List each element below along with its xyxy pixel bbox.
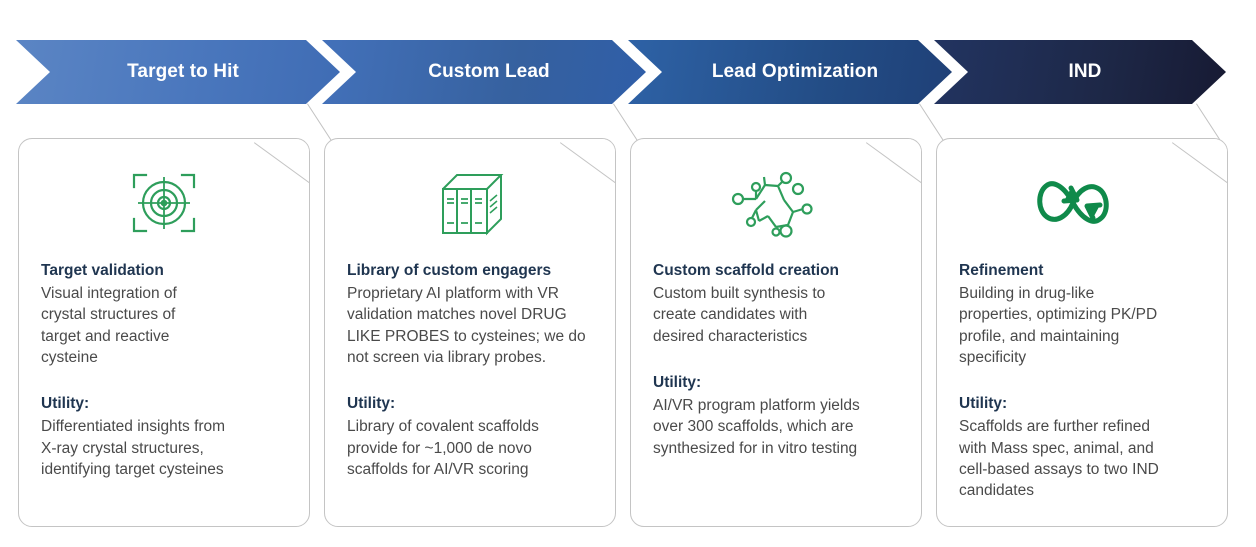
card-utility-body-1: Differentiated insights from X-ray cryst… <box>41 416 287 480</box>
chevron-label-2: Custom Lead <box>418 61 549 83</box>
stage-card-1[interactable]: Target validation Visual integration of … <box>18 138 310 527</box>
chevron-stage-3[interactable]: Lead Optimization <box>628 40 952 104</box>
chevron-label-3: Lead Optimization <box>702 61 878 83</box>
molecule-icon <box>653 155 899 251</box>
card-body-4: Building in drug-like properties, optimi… <box>959 283 1205 369</box>
chevron-label-4: IND <box>1058 61 1101 83</box>
card-utility-title-3: Utility: <box>653 373 899 394</box>
card-title-2: Library of custom engagers <box>347 261 593 282</box>
card-utility-title-1: Utility: <box>41 394 287 415</box>
chevron-stage-2[interactable]: Custom Lead <box>322 40 646 104</box>
card-utility-title-2: Utility: <box>347 394 593 415</box>
stage-chevron-row: Target to Hit Custom Lead Lead Optimizat… <box>0 40 1256 104</box>
chevron-label-1: Target to Hit <box>117 61 239 83</box>
library-books-icon <box>347 155 593 251</box>
card-title-4: Refinement <box>959 261 1205 282</box>
card-body-1: Visual integration of crystal structures… <box>41 283 287 369</box>
card-utility-body-3: AI/VR program platform yields over 300 s… <box>653 395 899 459</box>
chevron-stage-1[interactable]: Target to Hit <box>16 40 340 104</box>
stage-card-3[interactable]: Custom scaffold creation Custom built sy… <box>630 138 922 527</box>
card-utility-title-4: Utility: <box>959 394 1205 415</box>
infinity-refresh-icon <box>959 155 1205 251</box>
connector-line-3 <box>919 103 944 140</box>
connector-line-1 <box>307 103 332 140</box>
card-body-2: Proprietary AI platform with VR validati… <box>347 283 593 369</box>
target-crosshair-icon <box>41 155 287 251</box>
card-utility-body-2: Library of covalent scaffolds provide fo… <box>347 416 593 480</box>
stage-card-4[interactable]: Refinement Building in drug-like propert… <box>936 138 1228 527</box>
card-utility-body-4: Scaffolds are further refined with Mass … <box>959 416 1205 502</box>
connector-line-4 <box>1196 103 1221 140</box>
chevron-stage-4[interactable]: IND <box>934 40 1226 104</box>
card-title-1: Target validation <box>41 261 287 282</box>
card-body-3: Custom built synthesis to create candida… <box>653 283 899 347</box>
stage-card-2[interactable]: Library of custom engagers Proprietary A… <box>324 138 616 527</box>
pipeline-diagram: Target to Hit Custom Lead Lead Optimizat… <box>0 0 1256 547</box>
card-title-3: Custom scaffold creation <box>653 261 899 282</box>
connector-line-2 <box>613 103 638 140</box>
